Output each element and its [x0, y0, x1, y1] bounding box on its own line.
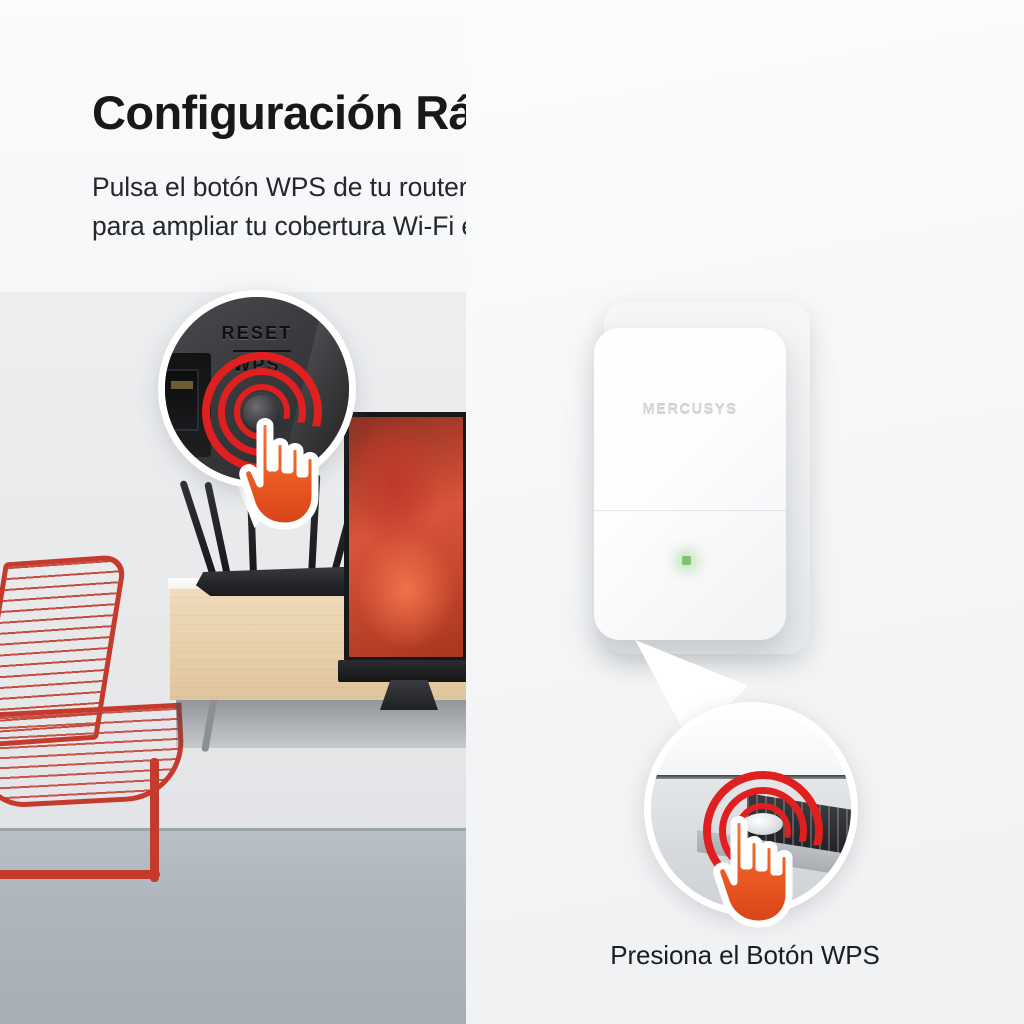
reset-label: RESET	[165, 323, 349, 344]
extender-wps-callout	[620, 688, 876, 940]
chair-leg-front	[150, 758, 159, 882]
monitor-base	[338, 660, 466, 682]
chair-foot-rail	[0, 870, 160, 879]
status-led	[682, 556, 691, 565]
port-contacts	[171, 381, 193, 389]
device-top-surface	[644, 709, 858, 777]
pointing-hand-icon	[710, 816, 796, 928]
device-front-body: MERCUSYS	[594, 328, 786, 640]
label-divider	[233, 350, 291, 352]
router-wps-callout: RESET WPS	[158, 290, 370, 528]
red-wire-chair	[0, 558, 180, 888]
brand-logo: MERCUSYS	[594, 402, 786, 418]
callout-caption: Presiona el Botón WPS	[466, 940, 1024, 971]
ethernet-port	[161, 369, 199, 431]
pointing-hand-icon	[236, 418, 322, 530]
marketing-image: Configuración Rápida y Sencilla Pulsa el…	[0, 0, 1024, 1024]
device-seam	[594, 510, 786, 511]
mercusys-extender: MERCUSYS	[594, 310, 810, 650]
